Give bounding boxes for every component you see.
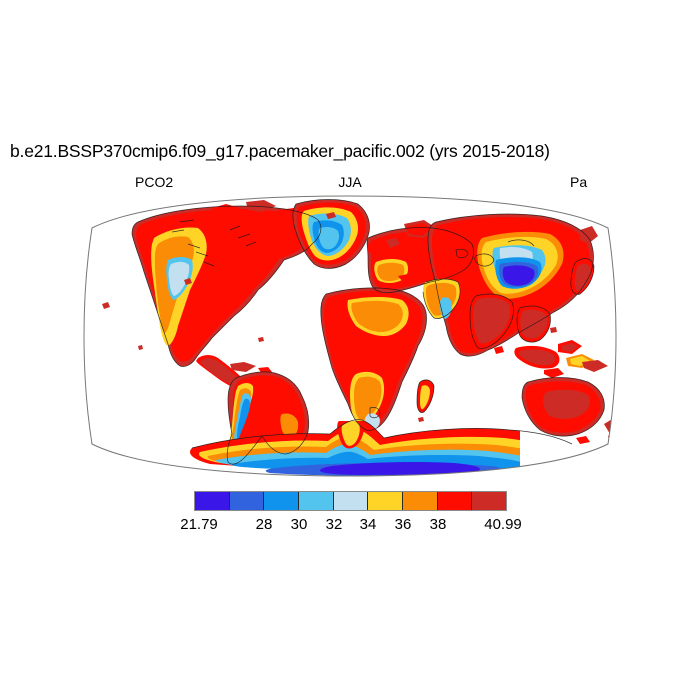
colorbar [194,491,507,511]
map-panel [80,186,620,486]
colorbar-tick-2: 30 [291,516,308,533]
colorbar-tick-4: 34 [360,516,377,533]
colorbar-swatch-8 [472,492,506,510]
robinson-map [80,186,620,486]
colorbar-tick-3: 32 [326,516,343,533]
colorbar-tick-7: 40.99 [484,516,522,533]
colorbar-tick-5: 36 [395,516,412,533]
colorbar-swatch-2 [264,492,299,510]
colorbar-tick-labels: 21.79 28 30 32 34 36 38 40.99 [0,516,700,538]
colorbar-swatch-6 [403,492,438,510]
colorbar-tick-1: 28 [256,516,273,533]
colorbar-swatch-1 [230,492,265,510]
colorbar-swatch-0 [195,492,230,510]
colorbar-swatch-4 [334,492,369,510]
colorbar-tick-0: 21.79 [180,516,218,533]
colorbar-swatch-7 [438,492,473,510]
colorbar-swatch-5 [368,492,403,510]
colorbar-swatch-3 [299,492,334,510]
figure-title: b.e21.BSSP370cmip6.f09_g17.pacemaker_pac… [10,141,550,162]
colorbar-tick-6: 38 [430,516,447,533]
figure-root: b.e21.BSSP370cmip6.f09_g17.pacemaker_pac… [0,0,700,700]
